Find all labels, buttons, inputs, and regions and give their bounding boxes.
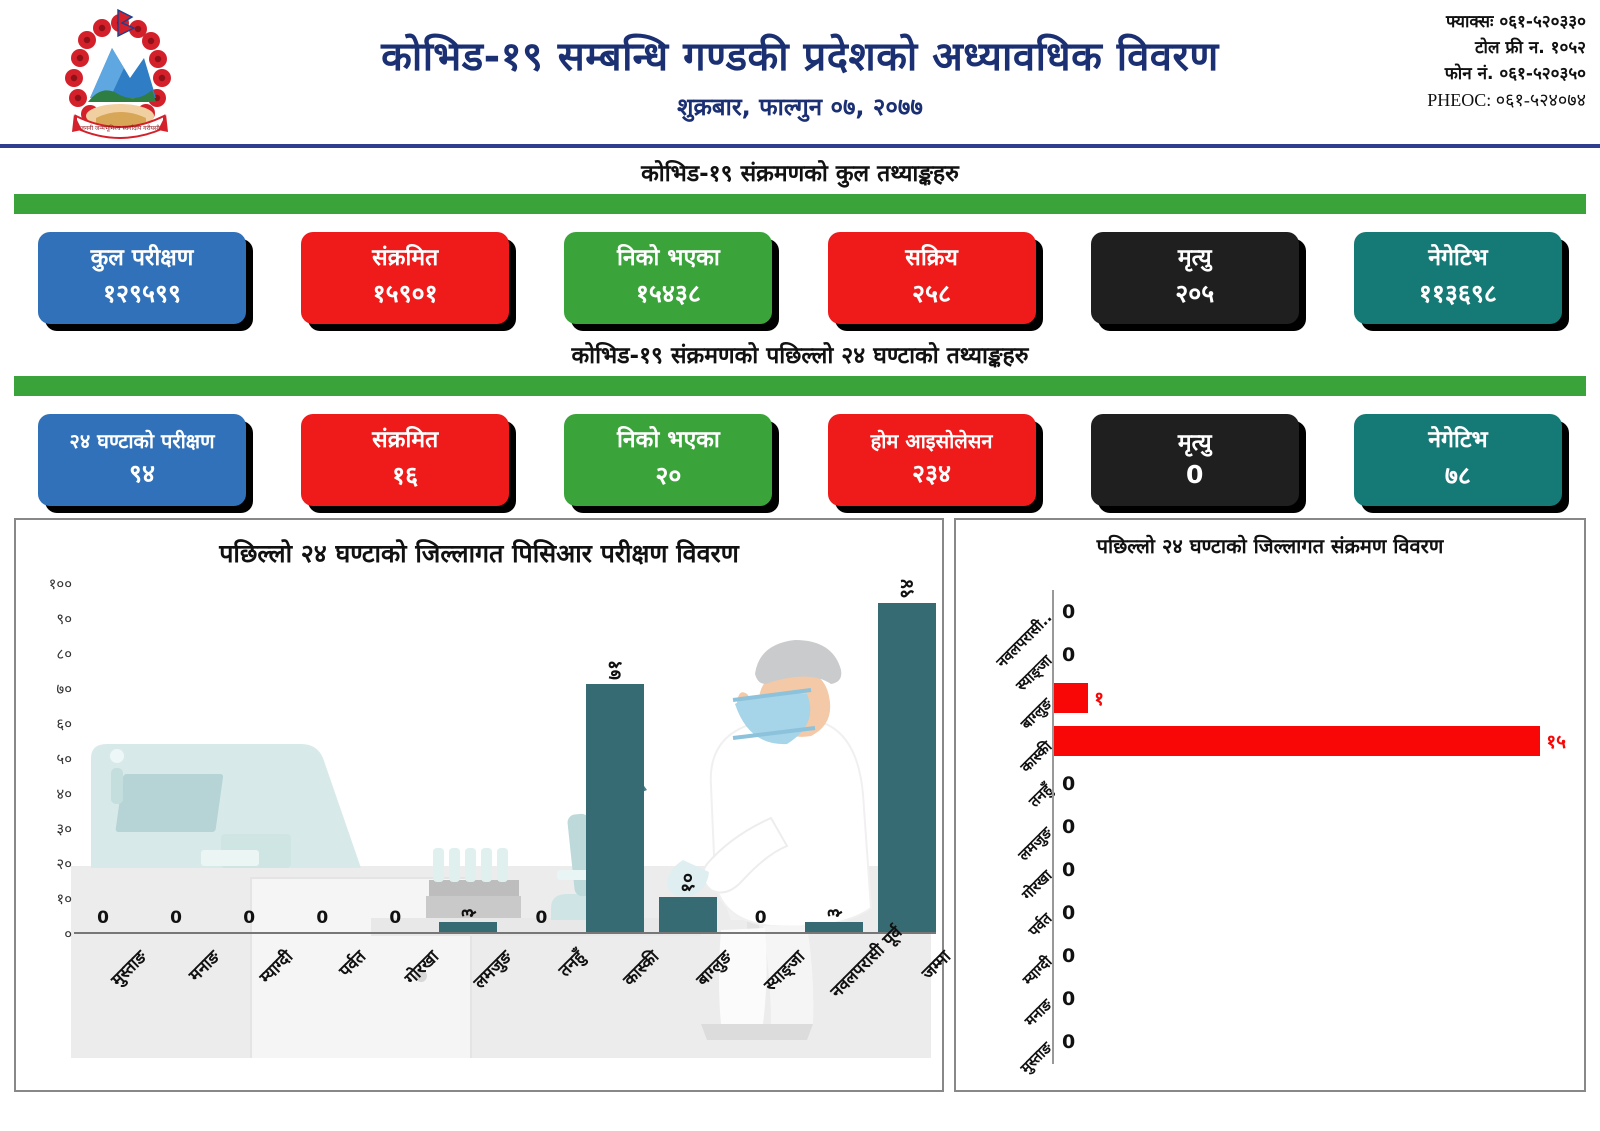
pcr-bar-value-label: 0 (170, 908, 182, 928)
pcr-bar-value-label: 0 (755, 908, 767, 928)
page-title: कोभिड-१९ सम्बन्धि गण्डकी प्रदेशको अध्याव… (260, 34, 1340, 80)
pcr-test-chart-panel: पछिल्लो २४ घण्टाको जिल्लागत पिसिआर परीक्… (14, 518, 944, 1092)
pcr-bar[interactable] (586, 684, 644, 933)
pheoc-line: PHEOC: ०६१-५२४०७४ (1427, 87, 1586, 114)
infection-bar-row[interactable]: १ (1054, 683, 1566, 713)
stat-card-total-3[interactable]: सक्रिय२५८ (828, 232, 1036, 324)
stat-card-total-0[interactable]: कुल परीक्षण१२९५९९ (38, 232, 246, 324)
stat-card-label: नेगेटिभ (1428, 428, 1487, 453)
stat-card-label: सक्रिय (905, 246, 958, 271)
infection-bar-value-label: 0 (1062, 816, 1075, 838)
toll-free-line: टोल फ्री न. १०५२ (1427, 36, 1586, 62)
infection-bar[interactable] (1054, 683, 1088, 713)
stat-card-value: २५८ (912, 276, 951, 310)
pcr-y-tick: २० (56, 854, 72, 874)
stat-card-label: संक्रमित (372, 428, 438, 453)
infection-horizontal-bar-chart: नवलपरासी..स्याङ्जाबाग्लुङकास्कीतनहुँलमजु… (956, 576, 1584, 1084)
page-header: जननी जन्मभूमिश्च स्वर्गादपि गरीयसी कोभिड… (0, 0, 1600, 148)
stat-card-total-4[interactable]: मृत्यु२०५ (1091, 232, 1299, 324)
pcr-bar-column[interactable]: ९४ (878, 584, 936, 932)
stat-card-value: 0 (1186, 460, 1203, 489)
pcr-bar-column[interactable]: 0 (366, 584, 424, 932)
pcr-bar-value-label: १० (675, 873, 701, 893)
pcr-bar-value-label: ३ (821, 908, 847, 918)
pcr-bar-value-label: 0 (536, 908, 548, 928)
stat-card-total-5[interactable]: नेगेटिभ११३६९८ (1354, 232, 1562, 324)
infection-bar-row[interactable]: १५ (1054, 726, 1566, 756)
pcr-bar-column[interactable]: १० (659, 584, 717, 932)
infection-bar-value-label: 0 (1062, 859, 1075, 881)
stat-card-last24-5[interactable]: नेगेटिभ७८ (1354, 414, 1562, 506)
stat-card-value: १२९५९९ (103, 276, 181, 310)
pcr-y-tick: ७० (56, 679, 72, 699)
stat-card-label: संक्रमित (372, 246, 438, 271)
stat-card-value: १५४३८ (636, 276, 701, 310)
pcr-y-tick: ५० (56, 749, 72, 769)
infection-bar-row[interactable]: 0 (1054, 597, 1566, 627)
pcr-bar-column[interactable]: ७१ (586, 584, 644, 932)
stat-card-label: निको भएका (617, 246, 720, 271)
infection-bar-row[interactable]: 0 (1054, 769, 1566, 799)
pcr-bar-column[interactable]: ३ (805, 584, 863, 932)
pcr-bar[interactable] (878, 603, 936, 932)
infection-bar-value-label: 0 (1062, 1031, 1075, 1053)
pcr-bar-value-label: 0 (389, 908, 401, 928)
pcr-x-axis-labels: मुस्ताङमनाङम्याग्दीपर्वतगोरखालमजुङतनहुँक… (74, 942, 936, 1062)
stat-card-label: नेगेटिभ (1428, 246, 1487, 271)
stat-card-value: ९४ (129, 456, 155, 490)
pcr-y-tick: ६० (56, 714, 72, 734)
stat-card-label: कुल परीक्षण (91, 246, 194, 271)
contact-info: फ्याक्सः ०६१-५२०३३० टोल फ्री न. १०५२ फोन… (1427, 10, 1586, 115)
stat-card-value: २० (655, 458, 681, 492)
total-stats-heading: कोभिड-१९ संक्रमणको कुल तथ्याङ्कहरु (0, 148, 1600, 194)
pcr-y-axis: ०१०२०३०४०५०६०७०८०९०१०० (24, 584, 72, 934)
svg-text:जननी जन्मभूमिश्च स्वर्गादपि गर: जननी जन्मभूमिश्च स्वर्गादपि गरीयसी (80, 124, 160, 132)
infection-bar-value-label: 0 (1062, 945, 1075, 967)
pcr-chart-title: पछिल्लो २४ घण्टाको जिल्लागत पिसिआर परीक्… (16, 520, 942, 570)
infection-bar-value-label: १ (1094, 685, 1104, 711)
infection-bar[interactable] (1054, 726, 1540, 756)
pcr-bar-value-label: 0 (243, 908, 255, 928)
pcr-y-tick: ९० (56, 609, 72, 629)
pcr-bar-column[interactable]: 0 (512, 584, 570, 932)
pcr-y-tick: ० (64, 924, 72, 944)
infection-bar-row[interactable]: 0 (1054, 984, 1566, 1014)
infection-bar-value-label: 0 (1062, 644, 1075, 666)
stat-card-last24-3[interactable]: होम आइसोलेसन२३४ (828, 414, 1036, 506)
stat-card-label: होम आइसोलेसन (871, 430, 993, 452)
infection-bar-row[interactable]: 0 (1054, 898, 1566, 928)
pcr-y-tick: ४० (56, 784, 72, 804)
nepal-government-emblem-icon: जननी जन्मभूमिश्च स्वर्गादपि गरीयसी (52, 6, 182, 142)
pcr-bar-column[interactable]: ३ (439, 584, 497, 932)
pcr-bar-value-label: 0 (316, 908, 328, 928)
infection-plot-area: 00११५0000000 (1052, 590, 1566, 1064)
infection-bar-row[interactable]: 0 (1054, 640, 1566, 670)
pcr-bar-value-label: ३ (455, 908, 481, 918)
pcr-bar[interactable] (805, 922, 863, 933)
pcr-bar[interactable] (439, 922, 497, 933)
charts-container: पछिल्लो २४ घण्टाको जिल्लागत पिसिआर परीक्… (0, 512, 1600, 1100)
infection-bar-row[interactable]: 0 (1054, 812, 1566, 842)
pcr-y-tick: ३० (56, 819, 72, 839)
pcr-plot-area: 00000३0७११०0३९४ (74, 584, 936, 934)
stat-card-last24-0[interactable]: २४ घण्टाको परीक्षण९४ (38, 414, 246, 506)
stat-card-value: १६ (392, 458, 418, 492)
last24-stats-row: २४ घण्टाको परीक्षण९४संक्रमित१६निको भएका२… (0, 396, 1600, 512)
pcr-bar-column[interactable]: 0 (74, 584, 132, 932)
report-date: शुक्रबार, फाल्गुन ०७, २०७७ (260, 90, 1340, 123)
infection-y-axis-labels: नवलपरासी..स्याङ्जाबाग्लुङकास्कीतनहुँलमजु… (956, 590, 1052, 1064)
stat-card-last24-2[interactable]: निको भएका२० (564, 414, 772, 506)
pcr-bar-column[interactable]: 0 (220, 584, 278, 932)
stat-card-label: २४ घण्टाको परीक्षण (69, 430, 214, 452)
pcr-y-tick: १०० (49, 574, 72, 594)
infection-bar-value-label: १५ (1546, 728, 1566, 754)
pcr-y-tick: ८० (56, 644, 72, 664)
title-block: कोभिड-१९ सम्बन्धि गण्डकी प्रदेशको अध्याव… (260, 34, 1340, 123)
pcr-bar[interactable] (659, 897, 717, 932)
infection-bar-value-label: 0 (1062, 902, 1075, 924)
green-divider-bottom (14, 376, 1586, 396)
pcr-bar-column[interactable]: 0 (732, 584, 790, 932)
infection-bar-value-label: 0 (1062, 773, 1075, 795)
infection-chart-title: पछिल्लो २४ घण्टाको जिल्लागत संक्रमण विवर… (956, 520, 1584, 559)
infection-bar-row[interactable]: 0 (1054, 941, 1566, 971)
stat-card-last24-4[interactable]: मृत्यु0 (1091, 414, 1299, 506)
green-divider-top (14, 194, 1586, 214)
pcr-bar-column[interactable]: 0 (147, 584, 205, 932)
stat-card-total-1[interactable]: संक्रमित१५९०१ (301, 232, 509, 324)
pcr-bar-value-label: ९४ (894, 579, 920, 599)
pcr-vertical-bar-chart: ०१०२०३०४०५०६०७०८०९०१०० 00000३0७११०0३९४ म… (16, 576, 946, 1076)
total-stats-row: कुल परीक्षण१२९५९९संक्रमित१५९०१निको भएका१… (0, 214, 1600, 330)
stat-card-last24-1[interactable]: संक्रमित१६ (301, 414, 509, 506)
stat-card-label: निको भएका (617, 428, 720, 453)
infection-bar-value-label: 0 (1062, 988, 1075, 1010)
pcr-bar-value-label: 0 (97, 908, 109, 928)
stat-card-value: २३४ (912, 456, 951, 490)
stat-card-value: ११३६९८ (1419, 276, 1497, 310)
pcr-y-tick: १० (56, 889, 72, 909)
phone-line: फोन नं. ०६१-५२०३५० (1427, 62, 1586, 88)
stat-card-value: १५९०१ (373, 276, 438, 310)
infection-bar-row[interactable]: 0 (1054, 1027, 1566, 1057)
stat-card-label: मृत्यु (1178, 246, 1212, 271)
stat-card-value: ७८ (1445, 458, 1471, 492)
stat-card-value: २०५ (1175, 276, 1214, 310)
infection-bar-row[interactable]: 0 (1054, 855, 1566, 885)
stat-card-label: मृत्यु (1178, 431, 1212, 456)
stat-card-total-2[interactable]: निको भएका१५४३८ (564, 232, 772, 324)
last24-stats-heading: कोभिड-१९ संक्रमणको पछिल्लो २४ घण्टाको तथ… (0, 330, 1600, 376)
infection-bar-value-label: 0 (1062, 601, 1075, 623)
infection-chart-panel: पछिल्लो २४ घण्टाको जिल्लागत संक्रमण विवर… (954, 518, 1586, 1092)
fax-line: फ्याक्सः ०६१-५२०३३० (1427, 10, 1586, 36)
pcr-bar-value-label: ७१ (602, 660, 628, 680)
pcr-bar-column[interactable]: 0 (293, 584, 351, 932)
